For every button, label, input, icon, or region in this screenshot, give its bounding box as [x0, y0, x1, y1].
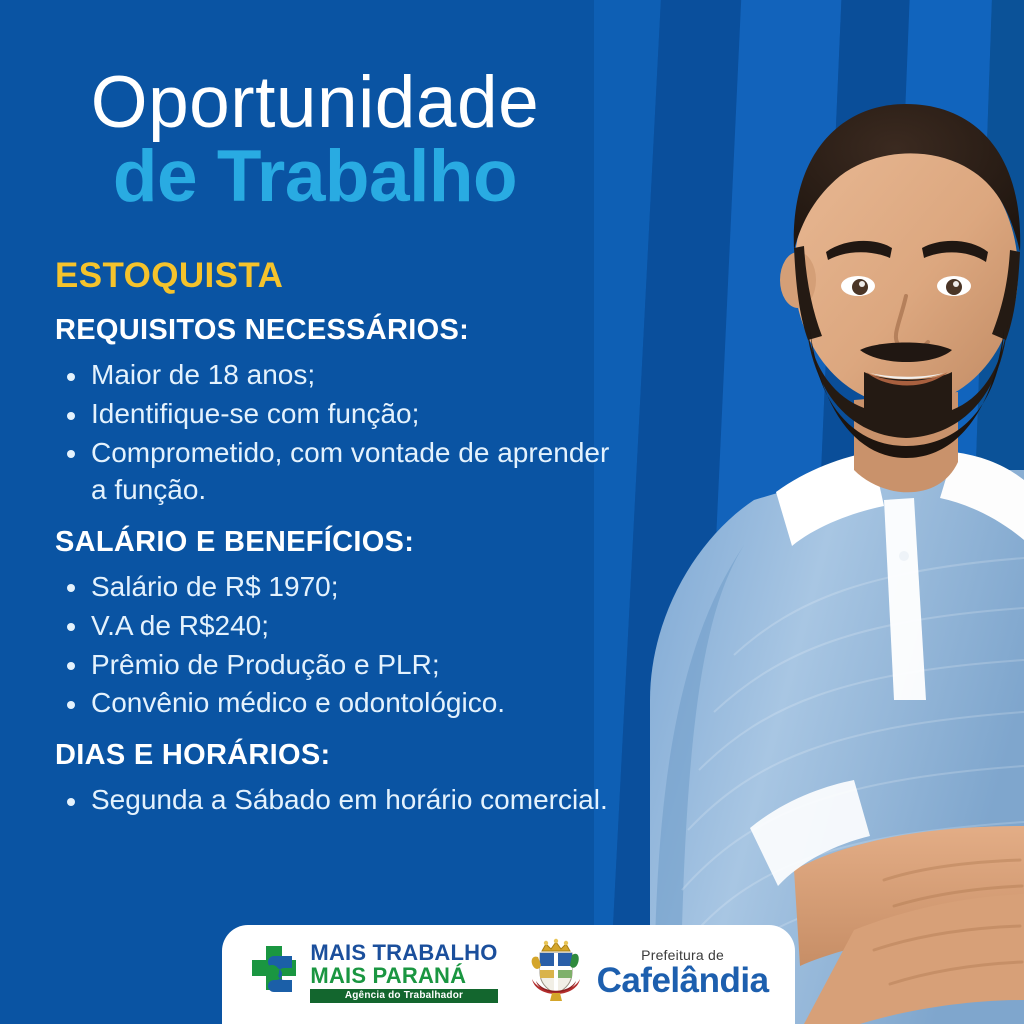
job-opportunity-poster: Oportunidade de Trabalho ESTOQUISTA REQU… [0, 0, 1024, 1024]
list-item: Salário de R$ 1970; [55, 569, 610, 606]
cross-puzzle-icon [248, 942, 304, 1003]
list-item: Convênio médico e odontológico. [55, 685, 610, 722]
list-item: Segunda a Sábado em horário comercial. [55, 782, 610, 819]
list-item: Comprometido, com vontade de aprender a … [55, 435, 610, 509]
section-heading-salario: SALÁRIO E BENEFÍCIOS: [55, 527, 610, 559]
logo-prefeitura-cafelandia: Prefeitura de Cafelândia [524, 935, 769, 1010]
job-title: ESTOQUISTA [55, 258, 610, 293]
logo-line-mais-parana: MAIS PARANÁ [310, 965, 497, 987]
headline-line-2: de Trabalho [0, 140, 630, 213]
list-item: Maior de 18 anos; [55, 357, 610, 394]
headline-line-1: Oportunidade [0, 68, 630, 138]
list-item: Identifique-se com função; [55, 396, 610, 433]
logo-line-agencia-trabalhador: Agência do Trabalhador [310, 989, 497, 1003]
schedule-list: Segunda a Sábado em horário comercial. [55, 782, 610, 819]
job-details: ESTOQUISTA REQUISITOS NECESSÁRIOS: Maior… [55, 258, 610, 821]
section-heading-dias: DIAS E HORÁRIOS: [55, 740, 610, 772]
logo-line-mais-trabalho: MAIS TRABALHO [310, 942, 497, 964]
footer-logo-panel: MAIS TRABALHO MAIS PARANÁ Agência do Tra… [222, 925, 795, 1024]
section-heading-requisitos: REQUISITOS NECESSÁRIOS: [55, 315, 610, 347]
list-item: V.A de R$240; [55, 608, 610, 645]
headline: Oportunidade de Trabalho [0, 68, 630, 213]
list-item: Prêmio de Produção e PLR; [55, 647, 610, 684]
benefits-list: Salário de R$ 1970; V.A de R$240; Prêmio… [55, 569, 610, 723]
logo-line-cafelandia: Cafelândia [597, 963, 769, 998]
logo-line-prefeitura: Prefeitura de [641, 948, 724, 962]
requirements-list: Maior de 18 anos; Identifique-se com fun… [55, 357, 610, 509]
coat-of-arms-icon [524, 935, 588, 1010]
logo-mais-trabalho-mais-parana: MAIS TRABALHO MAIS PARANÁ Agência do Tra… [248, 942, 497, 1003]
